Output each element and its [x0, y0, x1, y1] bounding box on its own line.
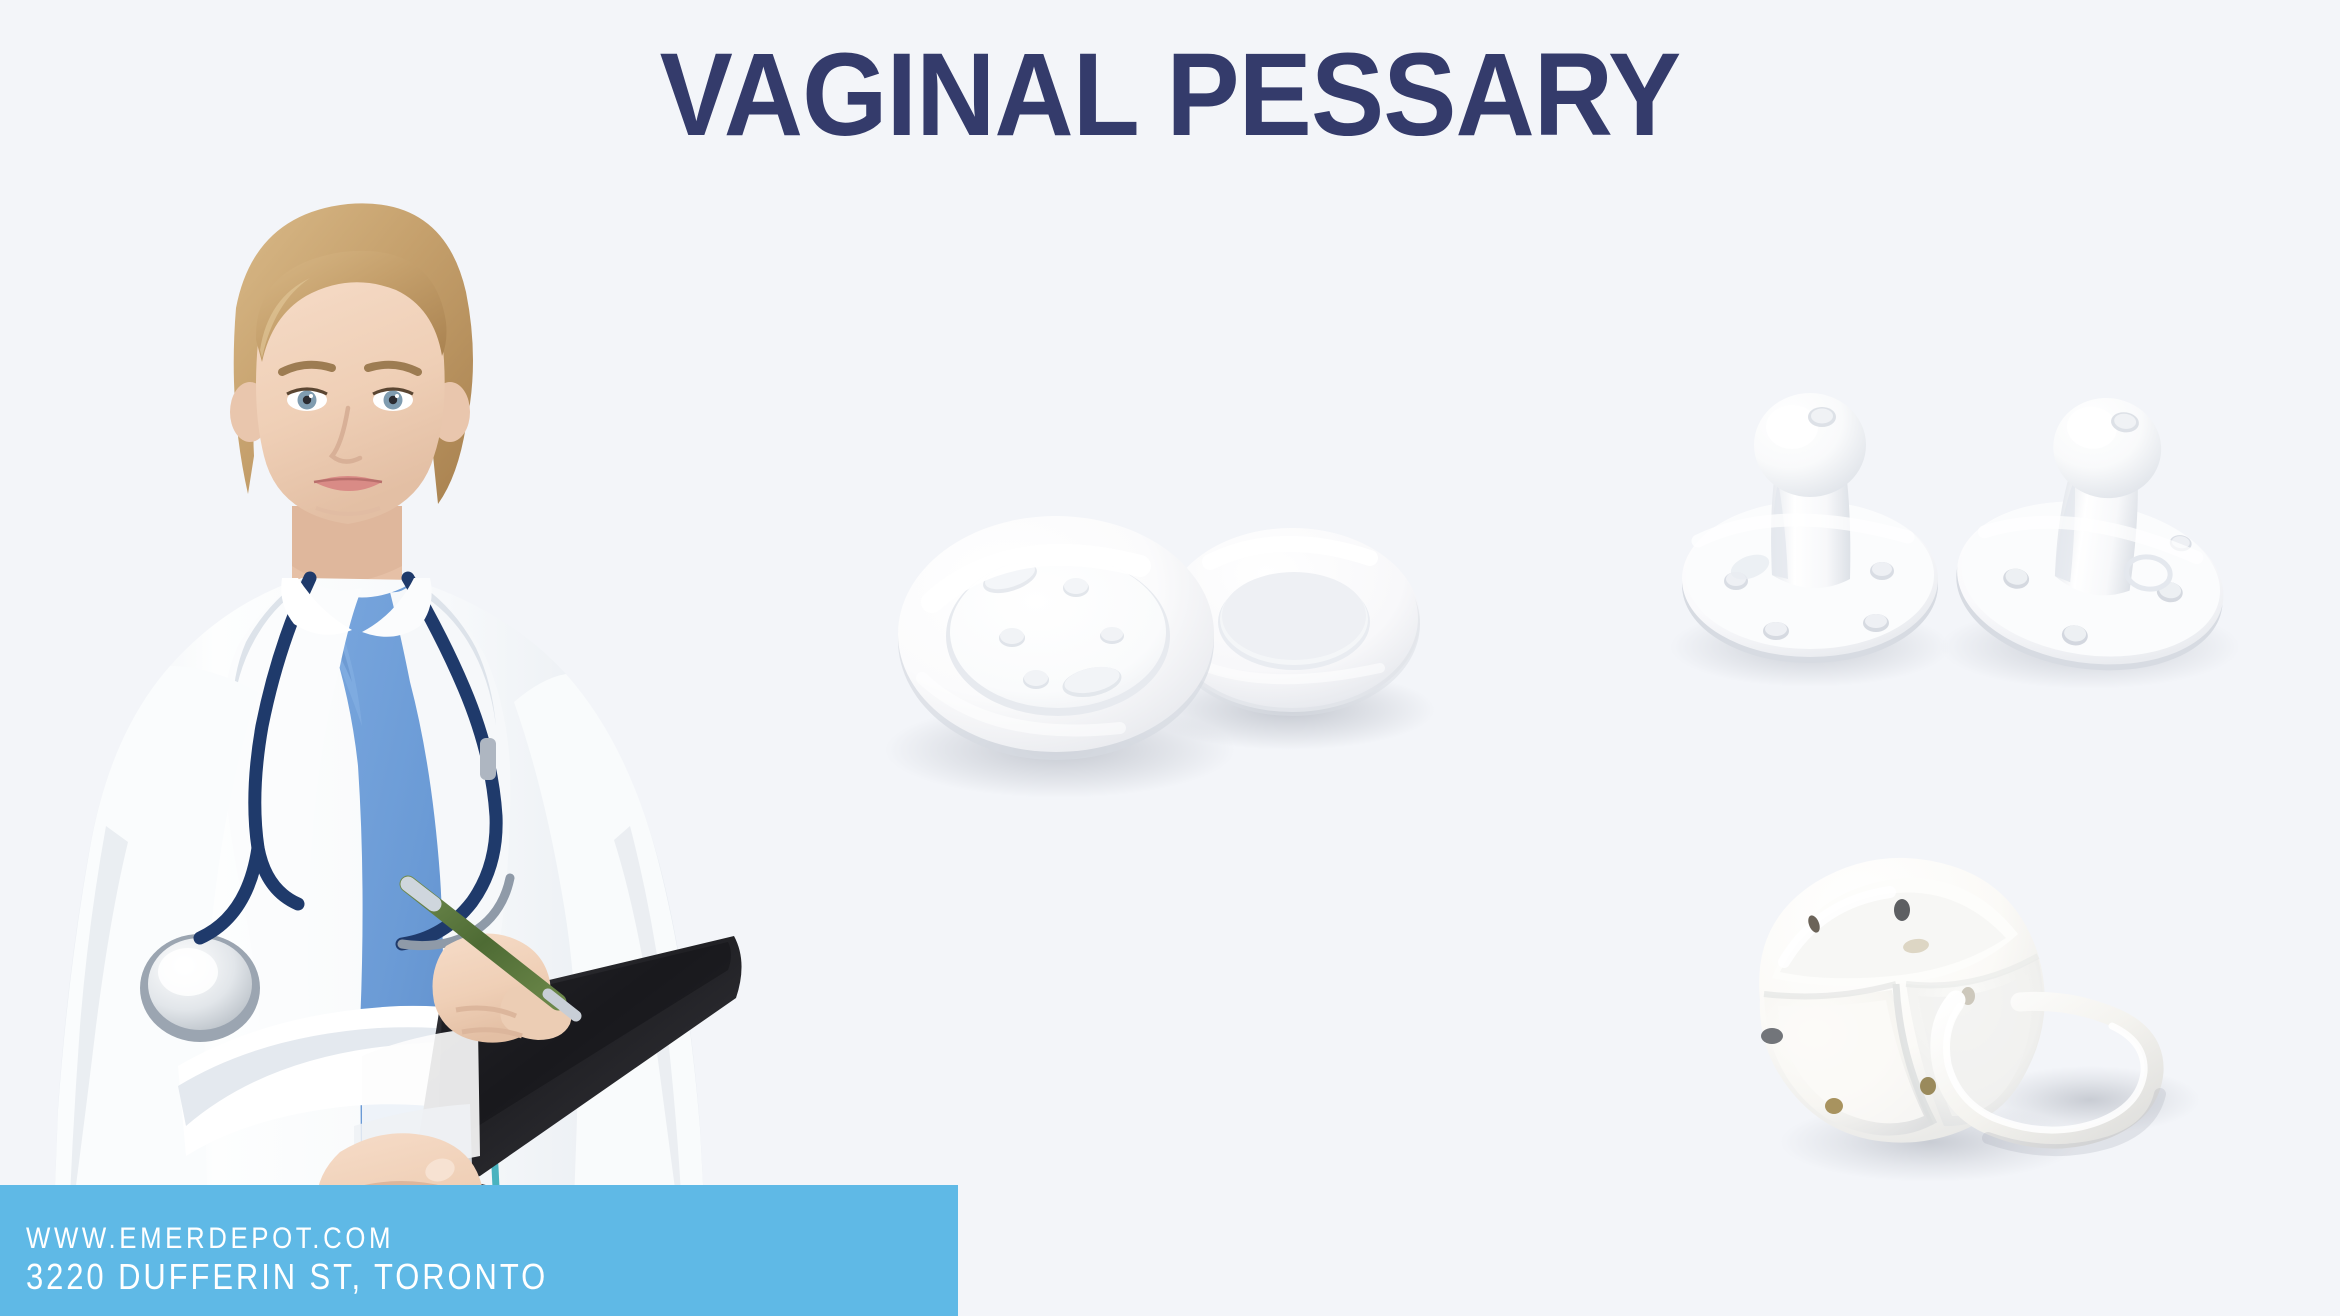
ring-pessary-pair-image [860, 470, 1480, 820]
footer-contact-bar: WWW.EMERDEPOT.COM 3220 DUFFERIN ST, TORO… [0, 1185, 958, 1316]
doctor-photo [10, 126, 750, 1316]
cube-pessary-image [1720, 850, 2240, 1210]
footer-address: 3220 DUFFERIN ST, TORONTO [26, 1257, 828, 1297]
banner-root: VAGINAL PESSARY [0, 0, 2340, 1316]
footer-website[interactable]: WWW.EMERDEPOT.COM [26, 1223, 828, 1255]
gellhorn-pessary-pair-image [1640, 385, 2290, 725]
